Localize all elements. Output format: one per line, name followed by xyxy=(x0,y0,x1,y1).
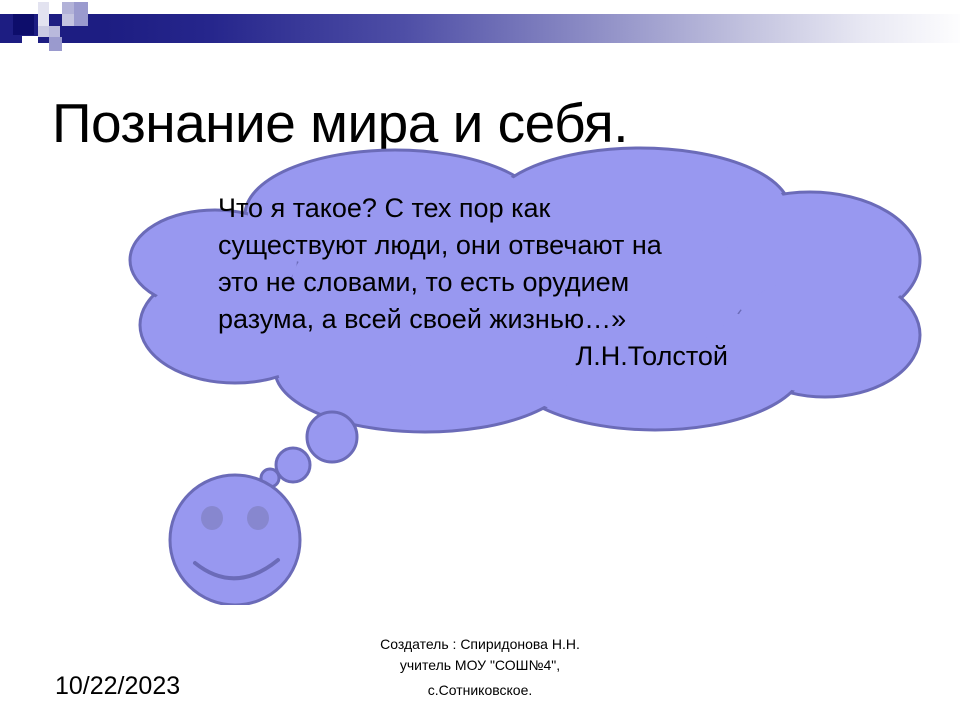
decor-square-3 xyxy=(74,2,88,26)
slide-date: 10/22/2023 xyxy=(55,672,180,701)
trail-bubble-medium xyxy=(276,448,310,482)
decor-navy-square xyxy=(13,14,34,35)
smiley-left-eye xyxy=(201,506,223,530)
decor-square-5 xyxy=(38,26,49,37)
quote-line-3: это не словами, то есть орудием xyxy=(218,264,738,301)
smiley-face-circle xyxy=(170,475,300,605)
quote-text-block: Что я такое? С тех пор как существуют лю… xyxy=(218,190,738,375)
decor-square-1 xyxy=(38,2,49,26)
quote-line-2: существуют люди, они отвечают на xyxy=(218,227,738,264)
thought-trail-and-face xyxy=(160,405,380,605)
decor-square-4 xyxy=(62,14,74,26)
decor-square-7 xyxy=(49,37,62,51)
decor-square-6 xyxy=(49,26,60,37)
footer-line-3: с.Сотниковское. xyxy=(280,680,680,701)
decor-square-2 xyxy=(62,2,74,14)
quote-line-4: разума, а всей своей жизнью…» xyxy=(218,301,738,338)
footer-line-1: Создатель : Спиридонова Н.Н. xyxy=(380,636,580,652)
header-gradient-band xyxy=(0,14,960,43)
decor-white-notch xyxy=(22,36,38,44)
footer-line-2: учитель МОУ "СОШ№4", xyxy=(400,657,560,673)
smiley-right-eye xyxy=(247,506,269,530)
trail-bubble-large xyxy=(307,412,357,462)
slide-canvas: Познание мира и себя. Что я такое xyxy=(0,0,960,720)
quote-author: Л.Н.Толстой xyxy=(218,338,738,375)
footer-credit: Создатель : Спиридонова Н.Н. учитель МОУ… xyxy=(280,634,680,701)
quote-line-1: Что я такое? С тех пор как xyxy=(218,190,738,227)
